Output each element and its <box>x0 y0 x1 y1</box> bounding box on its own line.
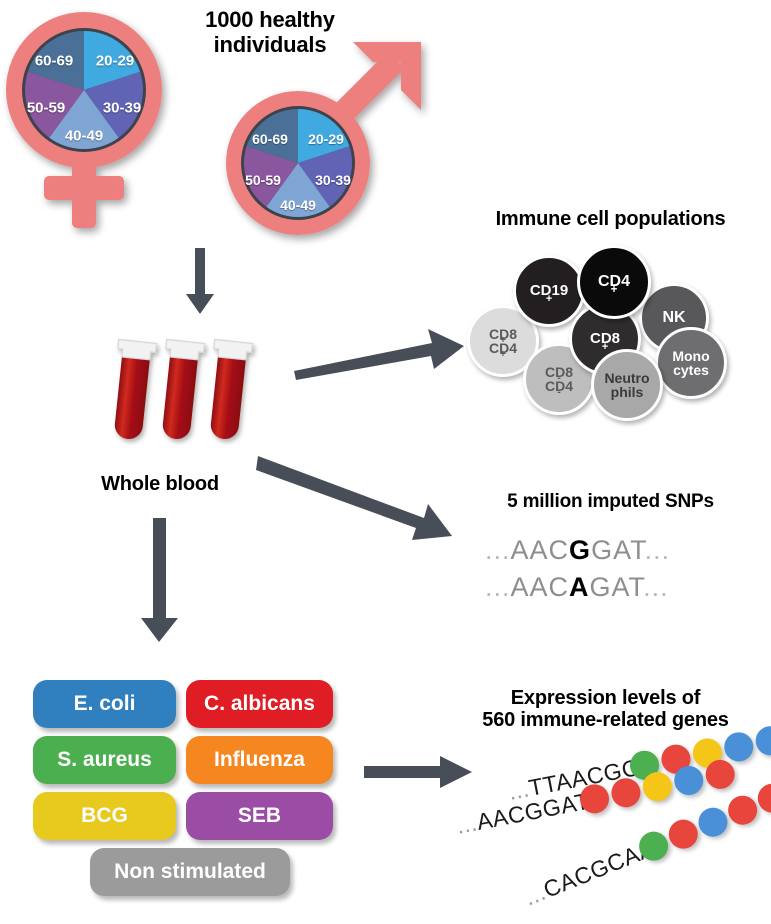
arrow-blood-to-stimuli <box>138 518 182 644</box>
stimulus-label: S. aureus <box>57 748 152 772</box>
stimulus-label: Influenza <box>214 748 305 772</box>
pie-label-50-59: 50-59 <box>27 100 65 117</box>
stimulus-label: C. albicans <box>204 692 315 716</box>
male-symbol: 20-29 30-39 40-49 50-59 60-69 <box>205 22 435 252</box>
pie-label-50-59: 50-59 <box>245 172 281 188</box>
stimulus-pill-influenza[interactable]: Influenza <box>186 736 333 784</box>
stimulus-label: E. coli <box>74 692 136 716</box>
immune-cell-cd19p: CD19+ <box>513 255 585 327</box>
immune-cell-label: CD8+ <box>590 331 620 346</box>
immune-cell-label: NK <box>662 310 685 326</box>
pie-label-60-69: 60-69 <box>35 53 73 70</box>
expression-title-line-1: Expression levels of <box>440 687 771 709</box>
snp-prefix: ... <box>485 572 511 602</box>
stimulus-pill-c-albicans[interactable]: C. albicans <box>186 680 333 728</box>
immune-cell-label-line2: phils <box>611 385 644 399</box>
snp-left: AAC <box>511 572 570 602</box>
snp-suffix: ... <box>645 535 671 565</box>
snp-variant: G <box>569 535 591 565</box>
immune-cell-label-line2: CD4+ <box>489 341 517 355</box>
immune-cell-label-line1: Mono <box>672 349 709 363</box>
pie-label-40-49: 40-49 <box>280 197 316 213</box>
immune-cell-label-line2: CD4- <box>545 379 573 393</box>
stimulus-label: BCG <box>81 804 128 828</box>
snp-left: AAC <box>511 535 570 565</box>
blood-tubes-graphic <box>100 335 280 460</box>
expression-title: Expression levels of 560 immune-related … <box>440 687 771 732</box>
immune-cell-neutrophils: Neutro phils <box>591 349 663 421</box>
dna-strands: ...TTAACGG ...AACGGAT ...CACGCAA <box>440 735 771 920</box>
whole-blood-label: Whole blood <box>60 473 260 495</box>
dna-base <box>694 803 732 841</box>
pie-label-30-39: 30-39 <box>315 172 351 188</box>
stimulus-pill-s-aureus[interactable]: S. aureus <box>33 736 176 784</box>
immune-cell-label-line1: CD8- <box>545 365 573 379</box>
immune-cell-label-line1: Neutro <box>604 371 649 385</box>
immune-cell-label: CD4+ <box>598 274 630 290</box>
pie-label-20-29: 20-29 <box>96 53 134 70</box>
snp-variant: A <box>569 572 590 602</box>
immune-cell-label-line1: CD8+ <box>489 327 517 341</box>
expression-title-line-2: 560 immune-related genes <box>440 709 771 731</box>
snp-prefix: ... <box>485 535 511 565</box>
pie-label-30-39: 30-39 <box>103 100 141 117</box>
snp-suffix: ... <box>643 572 669 602</box>
snp-row: ...AACGGAT... <box>485 535 670 566</box>
snp-row: ...AACAGAT... <box>485 572 669 603</box>
stimulus-pill-bcg[interactable]: BCG <box>33 792 176 840</box>
blood-tubes <box>100 335 280 460</box>
snp-right: GAT <box>591 535 645 565</box>
snp-right: GAT <box>590 572 644 602</box>
pie-label-60-69: 60-69 <box>252 131 288 147</box>
pie-label-40-49: 40-49 <box>65 128 103 145</box>
stimulus-pill-seb[interactable]: SEB <box>186 792 333 840</box>
arrow-blood-to-snps <box>256 452 456 544</box>
stimulus-pill-e-coli[interactable]: E. coli <box>33 680 176 728</box>
snps-title: 5 million imputed SNPs <box>450 491 771 512</box>
stimulus-label: SEB <box>238 804 281 828</box>
female-symbol: 20-29 30-39 40-49 50-59 60-69 <box>0 8 210 238</box>
immune-cell-cd4p: CD4+ <box>577 245 651 319</box>
immune-title: Immune cell populations <box>450 208 771 230</box>
stimulus-pill-non-stimulated[interactable]: Non stimulated <box>90 848 290 896</box>
arrow-blood-to-immune <box>292 325 467 380</box>
immune-cell-monocytes: Mono cytes <box>655 327 727 399</box>
diagram-canvas: 1000 healthy individuals <box>0 0 771 922</box>
dna-base <box>664 815 702 853</box>
arrow-cohort-to-blood <box>180 248 220 318</box>
female-symbol-graphic <box>0 8 210 238</box>
pie-label-20-29: 20-29 <box>308 131 344 147</box>
immune-cell-cluster: CD8+ CD4+ CD19+ CD4+ NK CD8+ CD8- CD4- N… <box>465 245 765 415</box>
immune-cell-label: CD19+ <box>530 283 568 298</box>
snp-sequences: ...AACGGAT... ...AACAGAT... <box>485 527 755 617</box>
stimulus-label: Non stimulated <box>114 860 266 884</box>
immune-cell-label-line2: cytes <box>673 363 709 377</box>
